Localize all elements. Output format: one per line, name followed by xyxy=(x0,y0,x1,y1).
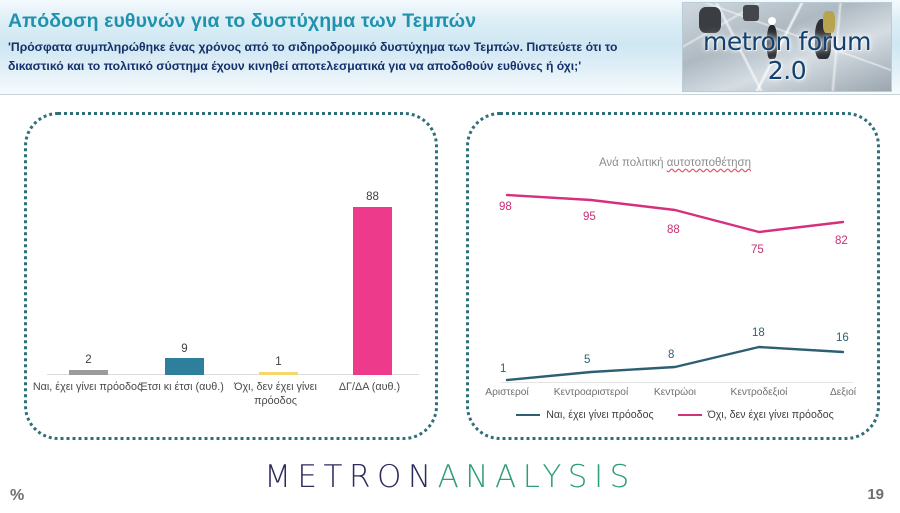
point-label-yes: 18 xyxy=(752,327,765,339)
bar-value-label: 88 xyxy=(327,191,418,203)
legend-label-no: Όχι, δεν έχει γίνει πρόοδος xyxy=(708,409,834,421)
metron-forum-logo: metron forum 2.0 xyxy=(682,2,892,92)
bar-rect-dk xyxy=(69,370,108,375)
line-chart: Ανά πολιτική αυτοτοποθέτηση 98 95 88 75 … xyxy=(483,131,867,425)
line-chart-panel: Ανά πολιτική αυτοτοποθέτηση 98 95 88 75 … xyxy=(466,112,880,440)
point-label-yes: 8 xyxy=(668,349,674,361)
point-label-no: 75 xyxy=(751,244,764,256)
bar-chart-panel: 9 1 88 2 Ναι, έχει γίνει πρόοδος Έτσι κι… xyxy=(24,112,438,440)
bar-category-label: ΔΓ/ΔΑ (αυθ.) xyxy=(315,381,425,395)
page-subtitle: 'Πρόσφατα συμπληρώθηκε ένας χρόνος από τ… xyxy=(8,38,668,75)
line-chart-legend: Ναι, έχει γίνει πρόοδος Όχι, δεν έχει γί… xyxy=(483,409,867,421)
line-x-tick: Δεξιοί xyxy=(788,387,898,398)
brand-metron-text: METRON xyxy=(264,459,437,495)
point-label-no: 98 xyxy=(499,201,512,213)
legend-swatch-no-icon xyxy=(678,414,702,417)
point-label-yes: 5 xyxy=(584,354,590,366)
metron-forum-logo-text: metron forum 2.0 xyxy=(683,27,891,85)
bar-value-label: 9 xyxy=(139,343,230,355)
line-chart-axis-line xyxy=(501,382,853,383)
legend-item-yes[interactable]: Ναι, έχει γίνει πρόοδος xyxy=(516,409,653,421)
point-label-no: 95 xyxy=(583,211,596,223)
photo-figure-top xyxy=(743,5,759,21)
line-series-yes xyxy=(507,347,843,380)
legend-item-no[interactable]: Όχι, δεν έχει γίνει πρόοδος xyxy=(678,409,834,421)
legend-swatch-yes-icon xyxy=(516,414,540,417)
bar-rect-yes xyxy=(165,358,204,375)
line-chart-plot-area xyxy=(483,131,867,425)
photo-figure-center-head xyxy=(768,17,776,25)
slide: Απόδοση ευθυνών για το δυστύχημα των Τεμ… xyxy=(0,0,900,513)
point-label-no: 88 xyxy=(667,224,680,236)
header-text-block: Απόδοση ευθυνών για το δυστύχημα των Τεμ… xyxy=(8,8,673,75)
slide-header: Απόδοση ευθυνών για το δυστύχημα των Τεμ… xyxy=(0,0,900,94)
bar-chart: 9 1 88 2 Ναι, έχει γίνει πρόοδος Έτσι κι… xyxy=(43,133,423,423)
bar-rect-no xyxy=(353,207,392,375)
page-title: Απόδοση ευθυνών για το δυστύχημα των Τεμ… xyxy=(8,8,673,34)
page-number: 19 xyxy=(867,486,884,503)
bar-value-label: 1 xyxy=(233,356,324,368)
brand-analysis-text: ANALYSIS xyxy=(438,459,636,495)
metron-analysis-logo: METRONANALYSIS xyxy=(0,459,900,495)
bar-rect-soso xyxy=(259,372,298,375)
bar-value-label: 2 xyxy=(43,354,134,366)
point-label-yes: 1 xyxy=(500,363,506,375)
point-label-yes: 16 xyxy=(836,332,849,344)
bar-chart-category-labels: Ναι, έχει γίνει πρόοδος Έτσι κι έτσι (αυ… xyxy=(45,377,421,423)
legend-label-yes: Ναι, έχει γίνει πρόοδος xyxy=(546,409,653,421)
point-label-no: 82 xyxy=(835,235,848,247)
